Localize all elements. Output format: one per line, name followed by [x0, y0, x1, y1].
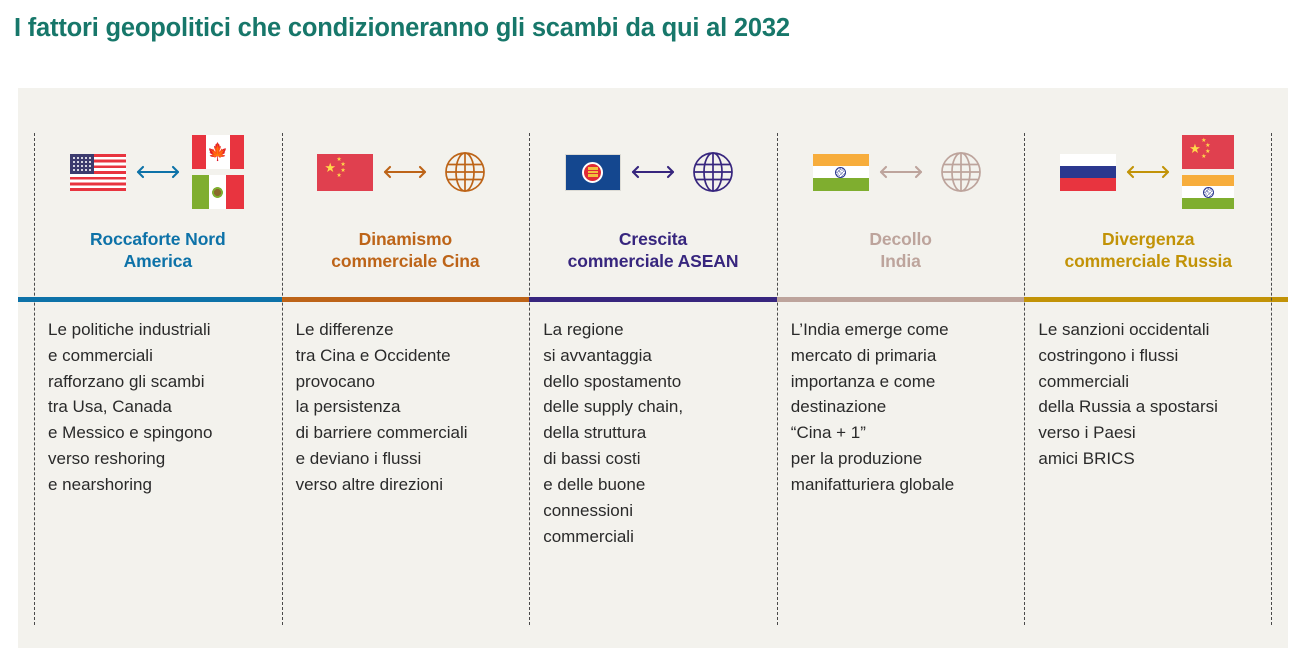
column-cina: ★ ★★ ★★ — [282, 88, 530, 648]
columns-container: 🍁 Roccaforte Nord America Le politiche i… — [34, 88, 1272, 648]
double-arrow-icon — [625, 164, 681, 180]
icon-group-left — [809, 154, 873, 191]
flag-usa-icon — [70, 154, 126, 191]
flag-china-icon: ★ ★★ ★★ — [1182, 135, 1234, 169]
flag-mexico-icon — [192, 175, 244, 209]
column-body-russia: Le sanzioni occidentali costringono i fl… — [1038, 317, 1264, 472]
icon-group-left — [66, 154, 130, 191]
column-russia: ★ ★★ ★★ Divergenza commerciale Russia Le… — [1024, 88, 1272, 648]
column-india: Decollo India L’India emerge come mercat… — [777, 88, 1025, 648]
column-body-asean: La regione si avvantaggia dello spostame… — [543, 317, 769, 549]
flag-canada-icon: 🍁 — [192, 135, 244, 169]
flag-india-icon — [813, 154, 869, 191]
accent-rule-russia — [1024, 297, 1288, 302]
icon-group-right — [681, 148, 745, 196]
double-arrow-icon — [1120, 164, 1176, 180]
accent-rule-cina — [282, 297, 530, 302]
icon-group-left — [561, 154, 625, 191]
flag-india-icon — [1182, 175, 1234, 209]
column-asean: Crescita commerciale ASEAN La regione si… — [529, 88, 777, 648]
accent-rule-nord-america — [18, 297, 282, 302]
page-title: I fattori geopolitici che condizionerann… — [14, 14, 790, 43]
icon-row-russia: ★ ★★ ★★ — [1024, 120, 1272, 224]
icon-row-cina: ★ ★★ ★★ — [282, 120, 530, 224]
flag-china-icon: ★ ★★ ★★ — [317, 154, 373, 191]
icon-group-right — [929, 148, 993, 196]
icon-row-asean — [529, 120, 777, 224]
icon-group-right — [433, 148, 497, 196]
column-body-nord-america: Le politiche industriali e commerciali r… — [48, 317, 274, 498]
icon-row-india — [777, 120, 1025, 224]
accent-rule-india — [777, 297, 1025, 302]
column-title-india: Decollo India — [783, 228, 1019, 273]
column-title-russia: Divergenza commerciale Russia — [1030, 228, 1266, 273]
flag-asean-icon — [565, 154, 621, 191]
infographic-panel: 🍁 Roccaforte Nord America Le politiche i… — [18, 88, 1288, 648]
column-nord-america: 🍁 Roccaforte Nord America Le politiche i… — [34, 88, 282, 648]
double-arrow-icon — [130, 164, 186, 180]
icon-group-right: 🍁 — [186, 135, 250, 209]
globe-icon — [937, 148, 985, 196]
column-title-nord-america: Roccaforte Nord America — [40, 228, 276, 273]
icon-group-left — [1056, 154, 1120, 191]
accent-rule-asean — [529, 297, 777, 302]
icon-row-nord-america: 🍁 — [34, 120, 282, 224]
double-arrow-icon — [873, 164, 929, 180]
globe-icon — [441, 148, 489, 196]
column-title-asean: Crescita commerciale ASEAN — [535, 228, 771, 273]
double-arrow-icon — [377, 164, 433, 180]
icon-group-left: ★ ★★ ★★ — [313, 154, 377, 191]
icon-group-right: ★ ★★ ★★ — [1176, 135, 1240, 209]
column-body-cina: Le differenze tra Cina e Occidente provo… — [296, 317, 522, 498]
column-title-cina: Dinamismo commerciale Cina — [288, 228, 524, 273]
flag-russia-icon — [1060, 154, 1116, 191]
globe-icon — [689, 148, 737, 196]
column-body-india: L’India emerge come mercato di primaria … — [791, 317, 1017, 498]
